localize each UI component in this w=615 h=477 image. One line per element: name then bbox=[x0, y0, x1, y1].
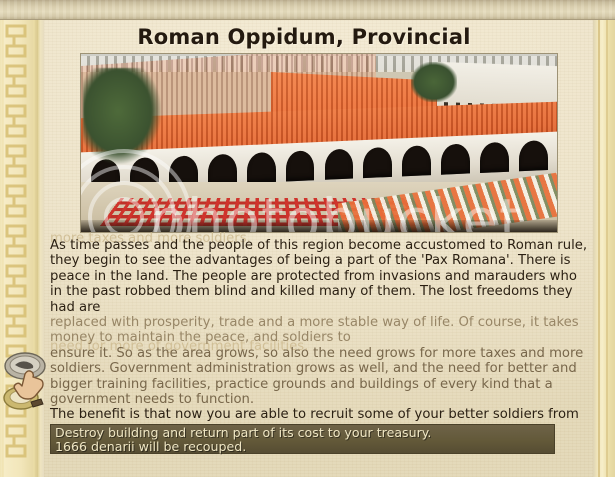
tree-center bbox=[411, 62, 457, 102]
tooltip-line-1: Destroy building and return part of its … bbox=[55, 426, 554, 440]
roman-town-photo bbox=[81, 54, 557, 232]
description-paragraph-1: As time passes and the people of this re… bbox=[50, 238, 590, 315]
tree-left bbox=[83, 68, 161, 164]
photo-shadow bbox=[81, 220, 557, 232]
building-illustration: photobucket bbox=[80, 53, 558, 233]
page-title: Roman Oppidum, Provincial bbox=[44, 25, 564, 49]
hand-pointer-coin-icon bbox=[1, 350, 53, 416]
destroy-building-tooltip[interactable]: Destroy building and return part of its … bbox=[50, 424, 555, 454]
description-text: As time passes and the people of this re… bbox=[50, 238, 590, 438]
description-paragraph-2: replaced with prosperity, trade and a mo… bbox=[50, 315, 590, 346]
tooltip-line-2: 1666 denarii will be recouped. bbox=[55, 440, 554, 454]
game-info-panel: Roman Oppidum, Provincial bbox=[0, 0, 615, 477]
description-paragraph-3: ensure it. So as the area grows, so also… bbox=[50, 346, 590, 408]
top-bevel-strip bbox=[0, 0, 615, 20]
content-column: Roman Oppidum, Provincial bbox=[44, 20, 593, 477]
right-gold-border bbox=[593, 20, 615, 477]
